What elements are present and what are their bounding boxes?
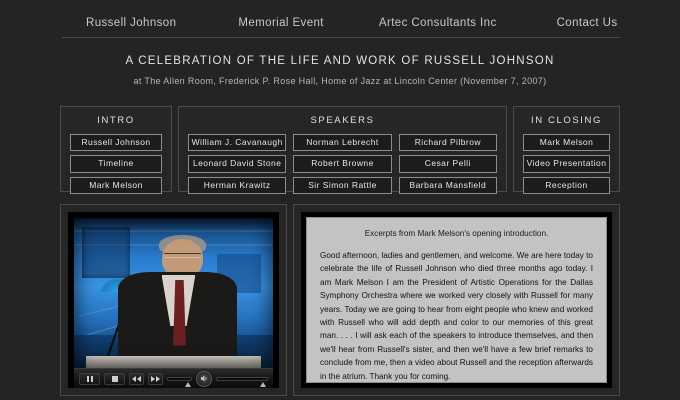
video-player-controls [74, 368, 273, 388]
seek-thumb[interactable] [185, 382, 191, 387]
speaker-button-leonard-david-stone[interactable]: Leonard David Stone [188, 155, 286, 172]
fast-forward-button[interactable] [148, 373, 163, 385]
pause-button[interactable] [79, 373, 100, 385]
intro-button-timeline[interactable]: Timeline [70, 155, 162, 172]
panel-speakers-title: SPEAKERS [188, 115, 497, 126]
panel-in-closing-title: IN CLOSING [523, 115, 610, 126]
nav-item-artec-consultants-inc[interactable]: Artec Consultants Inc [379, 17, 497, 29]
video-panel [60, 204, 287, 396]
transcript-frame: Excerpts from Mark Melson's opening intr… [301, 212, 612, 388]
intro-button-russell-johnson[interactable]: Russell Johnson [70, 134, 162, 151]
section-bottom: Excerpts from Mark Melson's opening intr… [60, 204, 620, 396]
volume-slider[interactable] [216, 373, 268, 385]
speaker-button-sir-simon-rattle[interactable]: Sir Simon Rattle [293, 177, 391, 194]
section-panels: INTRO Russell Johnson Timeline Mark Mels… [60, 106, 620, 192]
nav-item-russell-johnson[interactable]: Russell Johnson [86, 17, 176, 29]
panel-intro-buttons: Russell Johnson Timeline Mark Melson [70, 134, 162, 194]
video-vignette [74, 218, 273, 368]
stop-icon [112, 376, 118, 382]
intro-button-mark-melson[interactable]: Mark Melson [70, 177, 162, 194]
page-subtitle: at The Allen Room, Frederick P. Rose Hal… [0, 76, 680, 86]
nav-item-contact-us[interactable]: Contact Us [557, 17, 618, 29]
panel-intro: INTRO Russell Johnson Timeline Mark Mels… [60, 106, 172, 192]
nav-divider [62, 37, 620, 38]
video-frame [68, 212, 279, 388]
speaker-button-barbara-mansfield[interactable]: Barbara Mansfield [399, 177, 497, 194]
speaker-button-herman-krawitz[interactable]: Herman Krawitz [188, 177, 286, 194]
panel-speakers: SPEAKERS William J. Cavanaugh Norman Leb… [178, 106, 507, 192]
closing-button-reception[interactable]: Reception [523, 177, 610, 194]
panel-in-closing-buttons: Mark Melson Video Presentation Reception [523, 134, 610, 194]
volume-track [216, 377, 268, 381]
panel-intro-title: INTRO [70, 115, 162, 126]
volume-button[interactable] [196, 371, 212, 387]
speaker-icon [200, 374, 209, 383]
transcript-panel: Excerpts from Mark Melson's opening intr… [293, 204, 620, 396]
speaker-button-richard-pilbrow[interactable]: Richard Pilbrow [399, 134, 497, 151]
video-still[interactable] [74, 218, 273, 368]
nav-item-memorial-event[interactable]: Memorial Event [238, 17, 324, 29]
rewind-icon [132, 376, 141, 382]
pause-icon [87, 376, 93, 382]
seek-track [167, 377, 192, 381]
volume-thumb[interactable] [260, 382, 266, 387]
closing-button-video-presentation[interactable]: Video Presentation [523, 155, 610, 172]
title-block: A CELEBRATION OF THE LIFE AND WORK OF RU… [0, 55, 680, 86]
page-title: A CELEBRATION OF THE LIFE AND WORK OF RU… [0, 55, 680, 67]
transcript-content: Excerpts from Mark Melson's opening intr… [306, 217, 607, 383]
main-navigation: Russell Johnson Memorial Event Artec Con… [62, 8, 620, 38]
speaker-button-william-j-cavanaugh[interactable]: William J. Cavanaugh [188, 134, 286, 151]
page-root: Russell Johnson Memorial Event Artec Con… [0, 0, 680, 400]
transcript-heading: Excerpts from Mark Melson's opening intr… [320, 229, 593, 238]
speaker-button-cesar-pelli[interactable]: Cesar Pelli [399, 155, 497, 172]
panel-in-closing: IN CLOSING Mark Melson Video Presentatio… [513, 106, 620, 192]
seek-slider[interactable] [167, 373, 192, 385]
transcript-body: Good afternoon, ladies and gentlemen, an… [320, 249, 593, 383]
panel-speakers-buttons: William J. Cavanaugh Norman Lebrecht Ric… [188, 134, 497, 194]
speaker-button-norman-lebrecht[interactable]: Norman Lebrecht [293, 134, 391, 151]
speaker-button-robert-browne[interactable]: Robert Browne [293, 155, 391, 172]
rewind-button[interactable] [129, 373, 144, 385]
fast-forward-icon [151, 376, 160, 382]
stop-button[interactable] [104, 373, 125, 385]
closing-button-mark-melson[interactable]: Mark Melson [523, 134, 610, 151]
